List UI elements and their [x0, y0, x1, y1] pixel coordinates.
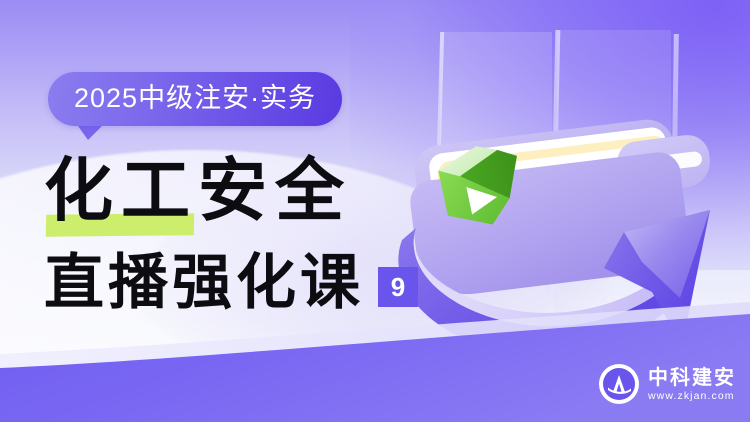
brand-logo: 中科建安 www.zkjan.com	[599, 364, 736, 404]
brand-name: 中科建安	[648, 366, 736, 388]
course-promo-banner: 2025中级注安·实务 化工安全 直播强化课 9 中科建安 www.zkjan.…	[0, 0, 750, 422]
headline-primary: 化工安全	[44, 152, 352, 230]
brand-text-block: 中科建安 www.zkjan.com	[648, 366, 736, 402]
headline-secondary-row: 直播强化课 9	[44, 248, 418, 318]
course-badge: 2025中级注安·实务	[48, 72, 342, 126]
play-cube-icon	[427, 130, 534, 239]
headline-secondary: 直播强化课	[44, 248, 364, 318]
badge-pointer-tail	[78, 126, 102, 140]
brand-url: www.zkjan.com	[648, 390, 736, 402]
episode-number-badge: 9	[378, 267, 418, 307]
bottom-wave-band	[0, 302, 750, 422]
zkjan-logo-icon	[599, 364, 639, 404]
